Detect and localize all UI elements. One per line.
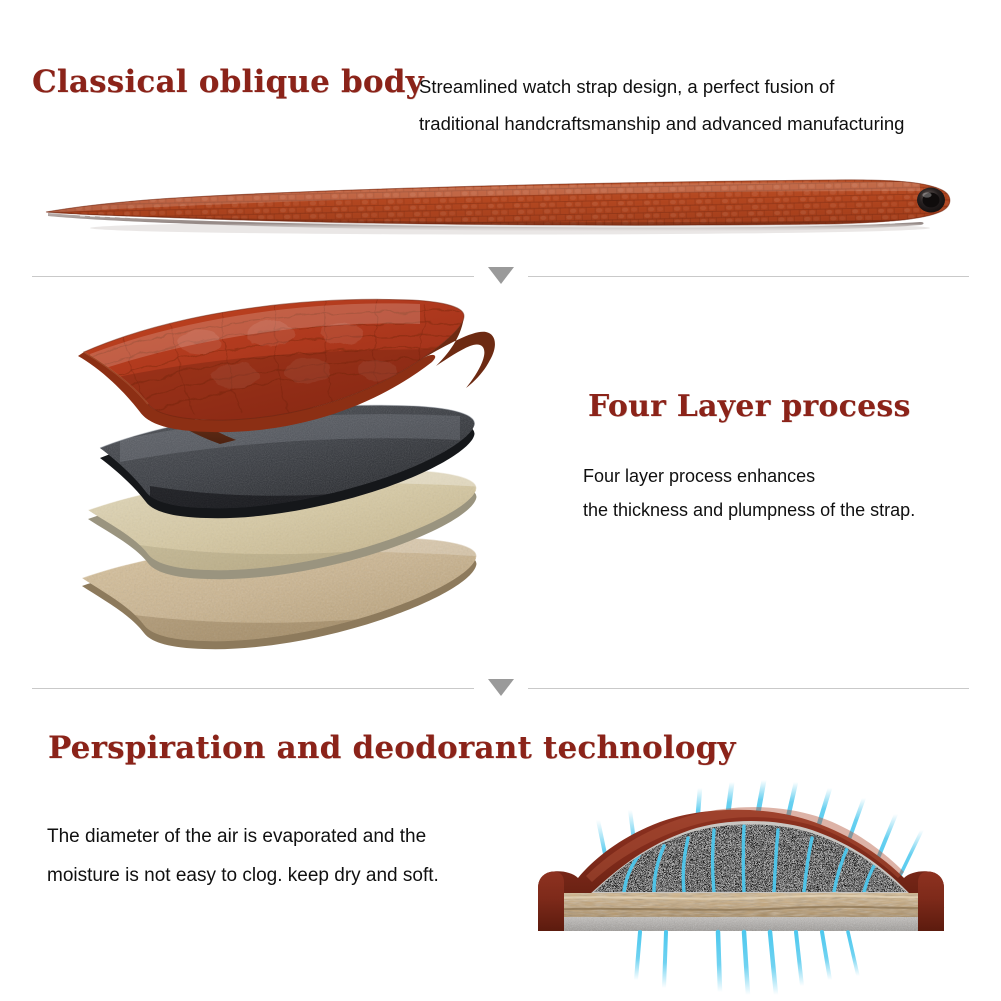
section-2-description: Four layer process enhances the thicknes… <box>583 459 915 527</box>
section-3-description: The diameter of the air is evaporated an… <box>47 817 439 895</box>
section-2-description-line-1: Four layer process enhances <box>583 459 915 493</box>
section-1-heading: Classical oblique body <box>32 64 424 100</box>
breathability-cross-section <box>520 780 980 995</box>
divider-rule-left <box>32 688 474 689</box>
watch-strap-side-view <box>40 160 970 255</box>
divider-rule-left <box>32 276 474 277</box>
chevron-down-icon <box>488 679 514 696</box>
section-1-description-line-2: traditional handcraftsmanship and advanc… <box>419 105 904 142</box>
section-1-description: Streamlined watch strap design, a perfec… <box>419 68 904 142</box>
divider-rule-right <box>528 688 970 689</box>
shell-right-cap <box>918 871 944 931</box>
section-3-heading: Perspiration and deodorant technology <box>48 730 736 766</box>
section-3-description-line-1: The diameter of the air is evaporated an… <box>47 817 439 856</box>
airflow-lines-downward <box>636 932 858 995</box>
divider-rule-right <box>528 276 970 277</box>
four-layer-exploded-view <box>60 290 540 665</box>
strap-end-grommet <box>917 188 945 213</box>
fiber-layer <box>538 893 944 917</box>
strap-leather-body <box>40 160 970 255</box>
infographic-page: Classical oblique body Streamlined watch… <box>0 0 1001 1001</box>
section-3-description-line-2: moisture is not easy to clog. keep dry a… <box>47 856 439 895</box>
section-divider-2 <box>32 675 969 701</box>
section-2-heading: Four Layer process <box>588 389 911 424</box>
chevron-down-icon <box>488 267 514 284</box>
shell-left-cap <box>538 871 564 931</box>
section-2-description-line-2: the thickness and plumpness of the strap… <box>583 493 915 527</box>
section-1-description-line-1: Streamlined watch strap design, a perfec… <box>419 68 904 105</box>
section-divider-1 <box>32 263 969 289</box>
